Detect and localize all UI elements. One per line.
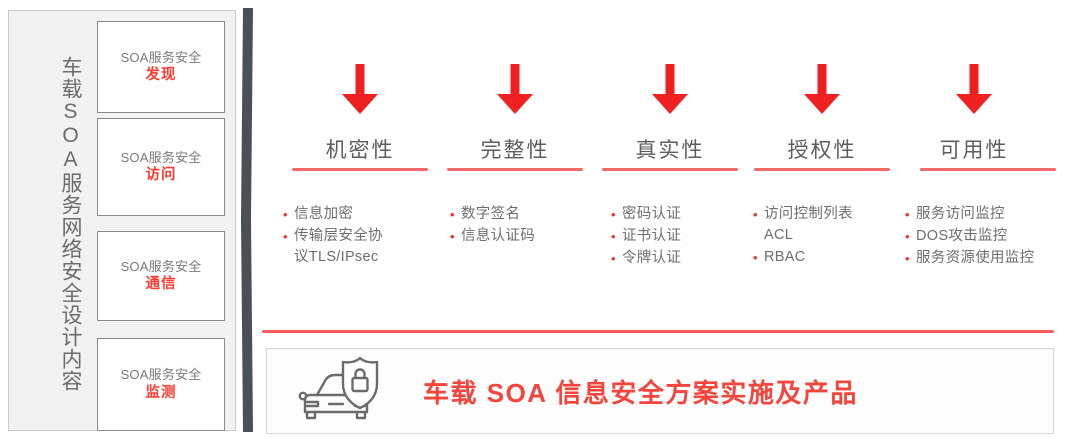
list-item-label: 密码认证 (622, 204, 681, 225)
panel-spine-divider (240, 8, 256, 432)
down-arrow-icon (493, 64, 537, 114)
bullet-dot-icon: • (750, 247, 764, 268)
down-arrow-icon (338, 64, 382, 114)
banner-title: 车载 SOA 信息安全方案实施及产品 (423, 373, 858, 410)
list-item-label: 数字签名 (461, 204, 520, 225)
soa-box-communication[interactable]: SOA服务安全 通信 (97, 231, 225, 321)
list-item-label: 服务访问监控 (916, 204, 1005, 225)
list-item-label: 信息加密 (294, 204, 353, 225)
soa-box-access[interactable]: SOA服务安全 访问 (97, 118, 225, 216)
section-divider (262, 330, 1054, 333)
bullet-dot-icon: • (902, 248, 916, 269)
list-item: • 传输层安全协 议TLS/IPsec (280, 226, 440, 268)
list-item: • 访问控制列表 ACL (750, 204, 910, 246)
pillar-underline (920, 168, 1056, 171)
bullet-dot-icon: • (750, 204, 764, 225)
bullet-dot-icon: • (447, 204, 461, 225)
list-item: • 信息认证码 (447, 226, 607, 247)
list-item-label: 信息认证码 (461, 226, 535, 247)
pillar-bullet-list: • 信息加密 • 传输层安全协 议TLS/IPsec (280, 204, 440, 269)
pillar-bullet-list: • 服务访问监控 • DOS攻击监控 • 服务资源使用监控 (902, 204, 1080, 270)
soa-box-monitoring[interactable]: SOA服务安全 监测 (97, 338, 225, 431)
down-arrow-icon (800, 64, 844, 114)
bullet-dot-icon: • (608, 248, 622, 269)
list-item-label: 服务资源使用监控 (916, 248, 1034, 269)
pillar-columns: 机密性 • 信息加密 • 传输层安全协 议TLS/IPsec (258, 0, 1080, 315)
bullet-dot-icon: • (447, 226, 461, 247)
pillar-underline (602, 168, 738, 171)
soa-box-discovery[interactable]: SOA服务安全 发现 (97, 21, 225, 113)
pillar-bullet-list: • 密码认证 • 证书认证 • 令牌认证 (608, 204, 768, 270)
pillar-title: 机密性 (280, 134, 440, 164)
left-panel-vertical-title: 车载SOA服务网络安全设计内容 (39, 29, 81, 419)
soa-box-label-accent: 访问 (146, 166, 177, 184)
soa-box-label-accent: 发现 (146, 66, 177, 84)
list-item-label: RBAC (764, 247, 806, 268)
soa-box-label-accent: 监测 (146, 384, 177, 402)
soa-box-label-primary: SOA服务安全 (121, 50, 202, 66)
list-item-label: 访问控制列表 ACL (764, 204, 853, 246)
bullet-dot-icon: • (902, 204, 916, 225)
bullet-dot-icon: • (280, 226, 294, 247)
bullet-dot-icon: • (902, 226, 916, 247)
list-item: • RBAC (750, 247, 910, 268)
pillar-title: 真实性 (590, 134, 750, 164)
pillar-title: 可用性 (894, 134, 1054, 164)
pillar-underline (754, 168, 890, 171)
bullet-dot-icon: • (280, 204, 294, 225)
soa-box-label-primary: SOA服务安全 (121, 259, 202, 275)
pillar-bullet-list: • 数字签名 • 信息认证码 (447, 204, 607, 248)
list-item: • 服务访问监控 (902, 204, 1080, 225)
list-item: • 服务资源使用监控 (902, 248, 1080, 269)
right-content-area: 机密性 • 信息加密 • 传输层安全协 议TLS/IPsec (258, 0, 1080, 439)
soa-box-label-primary: SOA服务安全 (121, 367, 202, 383)
pillar-underline (447, 168, 583, 171)
list-item: • 数字签名 (447, 204, 607, 225)
list-item-label: DOS攻击监控 (916, 226, 1008, 247)
pillar-title: 完整性 (435, 134, 595, 164)
solution-banner[interactable]: 车载 SOA 信息安全方案实施及产品 (266, 348, 1054, 434)
pillar-bullet-list: • 访问控制列表 ACL • RBAC (750, 204, 910, 269)
list-item-label: 令牌认证 (622, 248, 681, 269)
bullet-dot-icon: • (608, 226, 622, 247)
list-item: • 证书认证 (608, 226, 768, 247)
list-item: • 信息加密 (280, 204, 440, 225)
car-shield-lock-icon (295, 352, 395, 430)
list-item: • 令牌认证 (608, 248, 768, 269)
soa-box-label-accent: 通信 (146, 275, 177, 293)
list-item-label: 传输层安全协 议TLS/IPsec (294, 226, 383, 268)
pillar-title: 授权性 (742, 134, 902, 164)
down-arrow-icon (648, 64, 692, 114)
list-item: • DOS攻击监控 (902, 226, 1080, 247)
soa-box-label-primary: SOA服务安全 (121, 150, 202, 166)
pillar-underline (292, 168, 428, 171)
left-panel: 车载SOA服务网络安全设计内容 SOA服务安全 发现 SOA服务安全 访问 SO… (8, 10, 236, 431)
bullet-dot-icon: • (608, 204, 622, 225)
down-arrow-icon (952, 64, 996, 114)
list-item-label: 证书认证 (622, 226, 681, 247)
list-item: • 密码认证 (608, 204, 768, 225)
slide-root: 车载SOA服务网络安全设计内容 SOA服务安全 发现 SOA服务安全 访问 SO… (0, 0, 1080, 439)
